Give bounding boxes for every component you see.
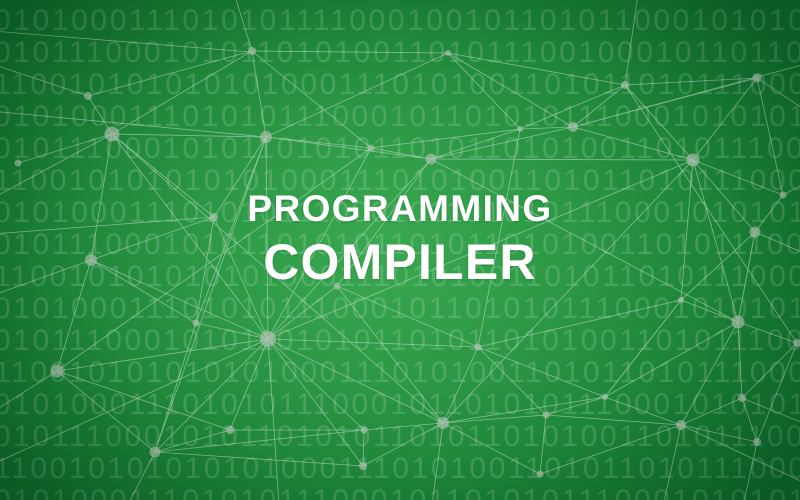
- title-block: PROGRAMMING COMPILER: [0, 190, 800, 287]
- banner-container: 0101000111010101111000100101101011000101…: [0, 0, 800, 500]
- page-title-primary: PROGRAMMING: [0, 190, 800, 227]
- page-title-secondary: COMPILER: [0, 237, 800, 287]
